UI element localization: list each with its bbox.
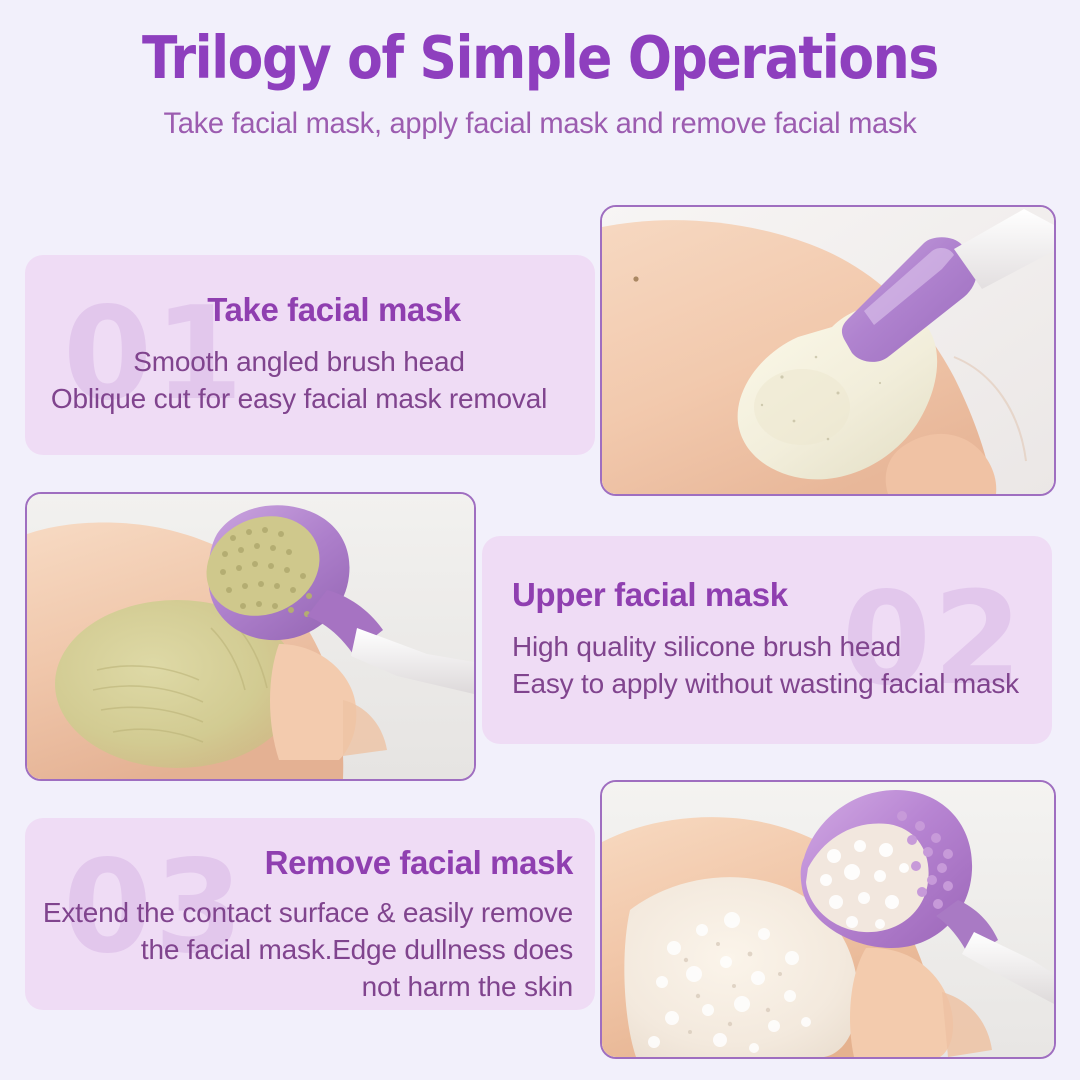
page-title: Trilogy of Simple Operations	[65, 0, 1015, 91]
step-line-03-2: the facial mask.Edge dullness does	[25, 931, 573, 968]
step-heading-03: Remove facial mask	[25, 844, 573, 882]
brush-applying-green-mask-illustration	[27, 494, 474, 779]
step-card-02: 02 Upper facial mask High quality silico…	[482, 536, 1052, 744]
step-heading-02: Upper facial mask	[512, 576, 1052, 614]
step-line-01-2: Oblique cut for easy facial mask removal	[25, 380, 573, 417]
page-subtitle: Take facial mask, apply facial mask and …	[16, 91, 1064, 141]
step-text-block-02: Upper facial mask High quality silicone …	[482, 536, 1052, 702]
step-heading-01: Take facial mask	[25, 291, 573, 329]
page-header: Trilogy of Simple Operations Take facial…	[0, 0, 1080, 141]
spatula-scooping-mask-illustration	[602, 207, 1054, 494]
step-line-02-2: Easy to apply without wasting facial mas…	[512, 665, 1052, 702]
step-text-block-03: Remove facial mask Extend the contact su…	[25, 818, 595, 1006]
step-photo-01	[600, 205, 1056, 496]
step-photo-03	[600, 780, 1056, 1059]
step-card-03: 03 Remove facial mask Extend the contact…	[25, 818, 595, 1010]
step-photo-02	[25, 492, 476, 781]
brush-removing-foam-mask-illustration	[602, 782, 1054, 1057]
step-line-01-1: Smooth angled brush head	[25, 343, 573, 380]
step-line-03-1: Extend the contact surface & easily remo…	[25, 894, 573, 931]
step-text-block-01: Take facial mask Smooth angled brush hea…	[25, 255, 595, 417]
step-line-03-3: not harm the skin	[25, 968, 573, 1005]
step-line-02-1: High quality silicone brush head	[512, 628, 1052, 665]
step-card-01: 01 Take facial mask Smooth angled brush …	[25, 255, 595, 455]
